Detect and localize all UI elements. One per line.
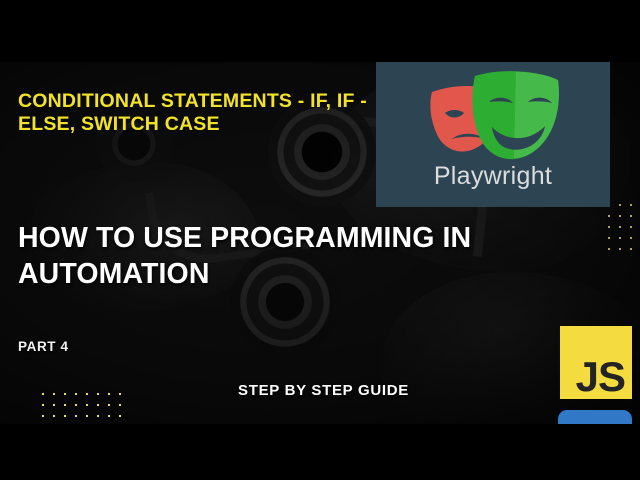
playwright-wordmark: Playwright xyxy=(376,162,610,191)
letterbox-bar-bottom xyxy=(0,424,640,480)
thumbnail-background: CONDITIONAL STATEMENTS - IF, IF -ELSE, S… xyxy=(0,62,640,424)
thumbnail-canvas: CONDITIONAL STATEMENTS - IF, IF -ELSE, S… xyxy=(0,0,640,480)
guide-label: STEP BY STEP GUIDE xyxy=(238,382,409,399)
letterbox-bar-top xyxy=(0,0,640,62)
javascript-badge-label: JS xyxy=(576,356,625,398)
playwright-logo: Playwright xyxy=(376,62,610,207)
theater-masks-icon xyxy=(418,70,568,162)
javascript-badge: JS xyxy=(560,326,632,399)
dot-grid-decoration-left xyxy=(42,393,130,424)
dot-grid-decoration-right xyxy=(608,204,640,259)
kicker-text: CONDITIONAL STATEMENTS - IF, IF -ELSE, S… xyxy=(18,90,368,136)
page-title: HOW TO USE PROGRAMMING IN AUTOMATION xyxy=(18,220,558,292)
typescript-badge: TS xyxy=(558,410,632,424)
part-label: PART 4 xyxy=(18,339,69,354)
